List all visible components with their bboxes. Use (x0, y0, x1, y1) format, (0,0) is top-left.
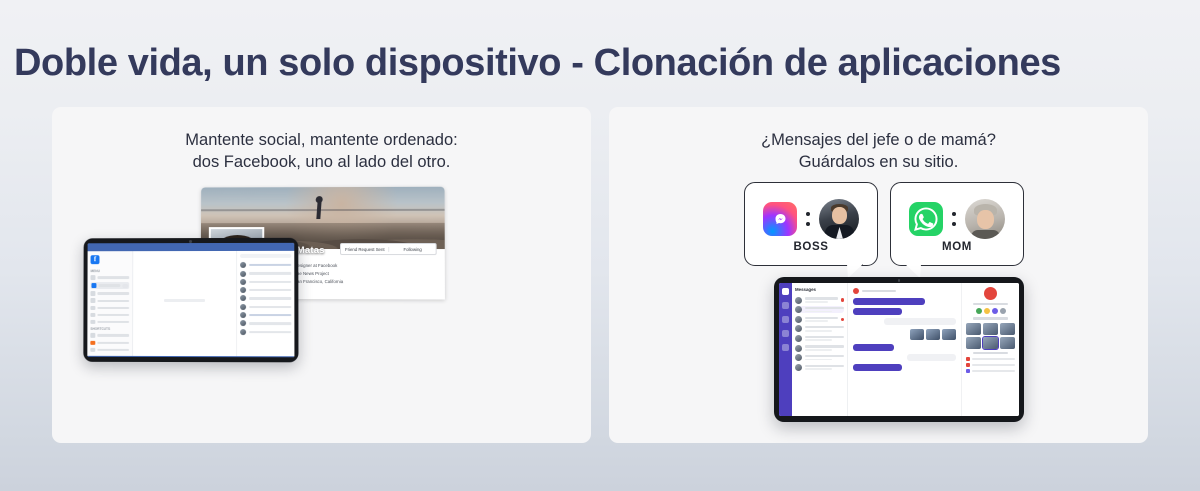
bubble-label-boss: BOSS (745, 241, 877, 253)
separator-colon-icon (806, 212, 810, 226)
settings-icon[interactable] (782, 344, 789, 351)
tablet-device-messenger: Messages (774, 277, 1024, 422)
contact-row[interactable] (240, 271, 291, 277)
separator-colon-icon (952, 212, 956, 226)
file-name (972, 364, 1015, 366)
shortcut-label (97, 341, 129, 343)
shared-media-heading (973, 317, 1007, 319)
chat-details-panel[interactable] (961, 283, 1019, 416)
events-icon (90, 320, 94, 324)
contact-avatar (240, 262, 246, 268)
pdf-file-icon (966, 357, 970, 361)
contact-avatar (240, 329, 246, 335)
facebook-contacts-panel[interactable] (236, 251, 294, 357)
file-row (966, 363, 1015, 367)
contact-row[interactable] (240, 329, 291, 335)
message-bubble-outgoing (853, 298, 925, 305)
chats-icon[interactable] (782, 302, 789, 309)
shortcut-label (97, 334, 129, 336)
contact-row[interactable] (240, 312, 291, 318)
conversation-list[interactable]: Messages (792, 283, 848, 416)
conversation-preview (805, 297, 839, 302)
archive-icon[interactable] (782, 330, 789, 337)
contact-display-name (973, 303, 1007, 305)
conversation-preview (805, 355, 845, 360)
contact-row[interactable] (240, 320, 291, 326)
message-bubble-outgoing (853, 344, 894, 351)
sidebar-item-label (98, 284, 119, 286)
messenger-logo-icon (782, 288, 789, 295)
avatar-face (832, 207, 847, 224)
contact-name (249, 322, 292, 324)
pdf-file-icon (966, 363, 970, 367)
unread-badge (841, 298, 845, 302)
contact-row[interactable] (240, 279, 291, 285)
media-thumbnail (966, 337, 981, 349)
conversation-avatar (795, 306, 802, 313)
message-bubble-incoming (884, 318, 956, 325)
chat-thread (848, 283, 961, 416)
facebook-feed-area (133, 251, 236, 356)
conversation-list-title: Messages (795, 287, 844, 292)
conversation-item[interactable] (795, 325, 844, 332)
mom-avatar (965, 199, 1005, 239)
bubble-content-mom (891, 199, 1023, 239)
sidebar-item-messages[interactable] (90, 282, 129, 288)
contact-avatar (240, 271, 246, 277)
shared-files-heading (973, 352, 1007, 354)
horizon-line (201, 209, 445, 211)
file-row (966, 357, 1015, 361)
sidebar-item[interactable] (90, 291, 129, 295)
contact-avatar-large (984, 287, 997, 300)
avatar-face (977, 210, 994, 229)
contact-avatar (240, 320, 246, 326)
photo-attachment-row[interactable] (853, 329, 956, 340)
contact-row[interactable] (240, 287, 291, 293)
message-bubble-incoming (907, 354, 956, 361)
conversation-preview (805, 317, 839, 322)
sidebar-item-label (97, 292, 129, 294)
page-title: Doble vida, un solo dispositivo - Clonac… (14, 44, 1194, 84)
friend-request-sent-button[interactable]: Friend Request Sent (341, 247, 389, 252)
boss-avatar (819, 199, 859, 239)
conversation-preview (805, 345, 845, 350)
contact-avatar (240, 287, 246, 293)
card-app-cloning-facebook: Mantente social, mantente ordenado: dos … (52, 107, 591, 443)
bubble-tail-boss (847, 264, 863, 278)
photo-thumbnail[interactable] (942, 329, 956, 340)
unread-badge (841, 318, 845, 322)
messenger-bolt-glyph (771, 213, 790, 225)
shortcut-item[interactable] (90, 347, 129, 352)
messenger-app-rail[interactable] (779, 283, 792, 416)
contact-avatar (240, 295, 246, 301)
mute-action-icon (984, 308, 990, 314)
media-thumbnail (966, 323, 981, 335)
conversation-avatar (795, 354, 802, 361)
shortcut-icon (90, 347, 94, 351)
photo-thumbnail[interactable] (926, 329, 940, 340)
shortcut-item[interactable] (90, 340, 129, 345)
contact-name (249, 264, 292, 266)
sidebar-item-label (97, 314, 129, 316)
media-thumbnail (1000, 323, 1015, 335)
feed-icon (91, 275, 95, 279)
sidebar-item[interactable] (90, 306, 129, 310)
groups-icon (90, 298, 94, 302)
quick-action-buttons[interactable] (976, 308, 1006, 314)
sidebar-item-label (97, 321, 129, 323)
sidebar-item-label (97, 276, 129, 278)
sidebar-item[interactable] (90, 298, 129, 302)
contact-row[interactable] (240, 262, 291, 268)
conversation-avatar (795, 325, 802, 332)
tablet-screen: f MENU SHORTCUTS (87, 243, 294, 357)
conversation-preview (805, 365, 845, 370)
shortcut-icon (90, 333, 94, 337)
conversation-preview (805, 307, 845, 312)
more-action-icon (1000, 308, 1006, 314)
shortcut-label (97, 349, 129, 351)
conversation-item-selected[interactable] (795, 306, 844, 313)
friends-icon (90, 291, 94, 295)
contact-name (249, 306, 292, 308)
contact-name (249, 331, 292, 333)
photo-thumbnail[interactable] (910, 329, 924, 340)
shortcut-icon (90, 340, 94, 344)
contact-avatar (240, 304, 246, 310)
conversation-avatar (795, 335, 802, 342)
conversation-preview (805, 336, 845, 341)
conversation-item[interactable] (795, 354, 844, 361)
contact-row[interactable] (240, 304, 291, 310)
unread-badge (122, 284, 128, 288)
conversation-item[interactable] (795, 364, 844, 371)
contact-name (249, 281, 292, 283)
conversation-item[interactable] (795, 297, 844, 304)
media-thumbnail (983, 323, 998, 335)
search-action-icon (992, 308, 998, 314)
camera-icon (898, 279, 901, 282)
avatar-top (971, 230, 1000, 239)
marketplace-icon (90, 306, 94, 310)
bubble-content-boss (745, 199, 877, 239)
messages-icon (91, 283, 95, 287)
media-thumbnail-selected (983, 337, 998, 349)
facebook-logo-icon: f (91, 255, 100, 264)
conversation-item[interactable] (795, 335, 844, 342)
contact-row[interactable] (240, 295, 291, 301)
speech-bubble-boss: BOSS (744, 182, 878, 266)
conversation-avatar (795, 316, 802, 323)
conversation-item[interactable] (795, 316, 844, 323)
facebook-app-body: f MENU SHORTCUTS (87, 251, 294, 357)
shortcut-item[interactable] (90, 333, 129, 338)
card-app-cloning-messaging: ¿Mensajes del jefe o de mamá? Guárdalos … (609, 107, 1148, 443)
conversation-avatar (795, 345, 802, 352)
message-bubble-outgoing (853, 308, 902, 315)
chat-partner-name (862, 290, 896, 292)
file-row (966, 369, 1015, 373)
sidebar-item-label (97, 307, 129, 309)
sidebar-item[interactable] (91, 275, 130, 280)
people-icon[interactable] (782, 316, 789, 323)
shared-media-grid[interactable] (966, 323, 1015, 349)
profile-action-buttons[interactable]: Friend Request Sent Following (340, 243, 437, 255)
following-button[interactable]: Following (389, 247, 436, 252)
facebook-sidebar[interactable]: f MENU SHORTCUTS (87, 251, 133, 356)
shared-files-list[interactable] (966, 357, 1015, 373)
whatsapp-icon[interactable] (909, 202, 943, 236)
bubble-tail-mom (905, 264, 921, 278)
watch-icon (90, 313, 94, 317)
tablet-screen: Messages (779, 283, 1019, 416)
contact-name (249, 272, 292, 274)
contact-avatar (240, 279, 246, 285)
chat-partner-avatar (853, 288, 859, 294)
messenger-icon[interactable] (763, 202, 797, 236)
contact-name (249, 314, 292, 316)
file-name (972, 370, 1015, 372)
tablet-device-facebook: f MENU SHORTCUTS (83, 238, 298, 363)
sidebar-item[interactable] (90, 320, 129, 325)
sidebar-item-label (97, 300, 129, 302)
contact-avatar (240, 312, 246, 318)
speech-bubble-mom: MOM (890, 182, 1024, 266)
sidebar-heading-menu: MENU (91, 269, 130, 273)
right-card-illustration: BOSS MOM (609, 107, 1148, 443)
conversation-item[interactable] (795, 345, 844, 352)
left-card-illustration: Mike Matas Friend Request Sent Following… (52, 107, 591, 443)
sidebar-heading-shortcuts: SHORTCUTS (90, 327, 129, 331)
doc-file-icon (966, 369, 970, 373)
conversation-preview (805, 326, 845, 331)
hiker-figure-icon (316, 199, 321, 219)
conversation-avatar (795, 364, 802, 371)
file-name (972, 358, 1015, 360)
call-action-icon (976, 308, 982, 314)
media-thumbnail (1000, 337, 1015, 349)
conversation-avatar (795, 297, 802, 304)
sidebar-item[interactable] (90, 313, 129, 318)
feed-placeholder-text (164, 299, 205, 302)
contact-name (249, 297, 292, 299)
contact-name (249, 289, 292, 291)
chat-header (853, 288, 956, 294)
bubble-label-mom: MOM (891, 241, 1023, 253)
contacts-search-input[interactable] (240, 254, 291, 258)
message-bubble-outgoing (853, 364, 902, 371)
